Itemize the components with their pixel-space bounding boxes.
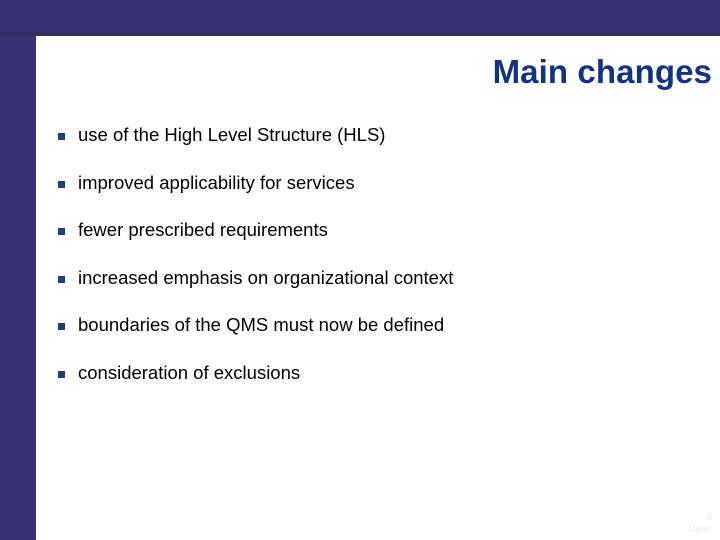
slide-date-placeholder: Date: — [688, 524, 712, 536]
list-item-label: use of the High Level Structure (HLS) — [78, 122, 698, 148]
list-item-label: improved applicability for services — [78, 170, 698, 196]
slide-canvas: Main changes use of the High Level Struc… — [0, 0, 720, 540]
square-bullet-icon — [58, 371, 65, 378]
list-item: fewer prescribed requirements — [58, 217, 698, 265]
list-item-label: fewer prescribed requirements — [78, 217, 698, 243]
bullet-list: use of the High Level Structure (HLS) im… — [58, 122, 698, 407]
list-item: boundaries of the QMS must now be define… — [58, 312, 698, 360]
square-bullet-icon — [58, 228, 65, 235]
list-item: improved applicability for services — [58, 170, 698, 218]
slide-number: 8 — [688, 512, 712, 524]
top-accent-band-edge — [0, 32, 720, 36]
list-item: use of the High Level Structure (HLS) — [58, 122, 698, 170]
page-title: Main changes — [60, 52, 712, 92]
square-bullet-icon — [58, 323, 65, 330]
list-item: increased emphasis on organizational con… — [58, 265, 698, 313]
top-accent-band — [0, 0, 720, 36]
list-item-label: increased emphasis on organizational con… — [78, 265, 698, 291]
square-bullet-icon — [58, 276, 65, 283]
square-bullet-icon — [58, 133, 65, 140]
list-item-label: consideration of exclusions — [78, 360, 698, 386]
list-item: consideration of exclusions — [58, 360, 698, 408]
list-item-label: boundaries of the QMS must now be define… — [78, 312, 698, 338]
slide-footer: 8 Date: — [688, 512, 712, 536]
left-accent-band — [0, 0, 36, 540]
square-bullet-icon — [58, 181, 65, 188]
